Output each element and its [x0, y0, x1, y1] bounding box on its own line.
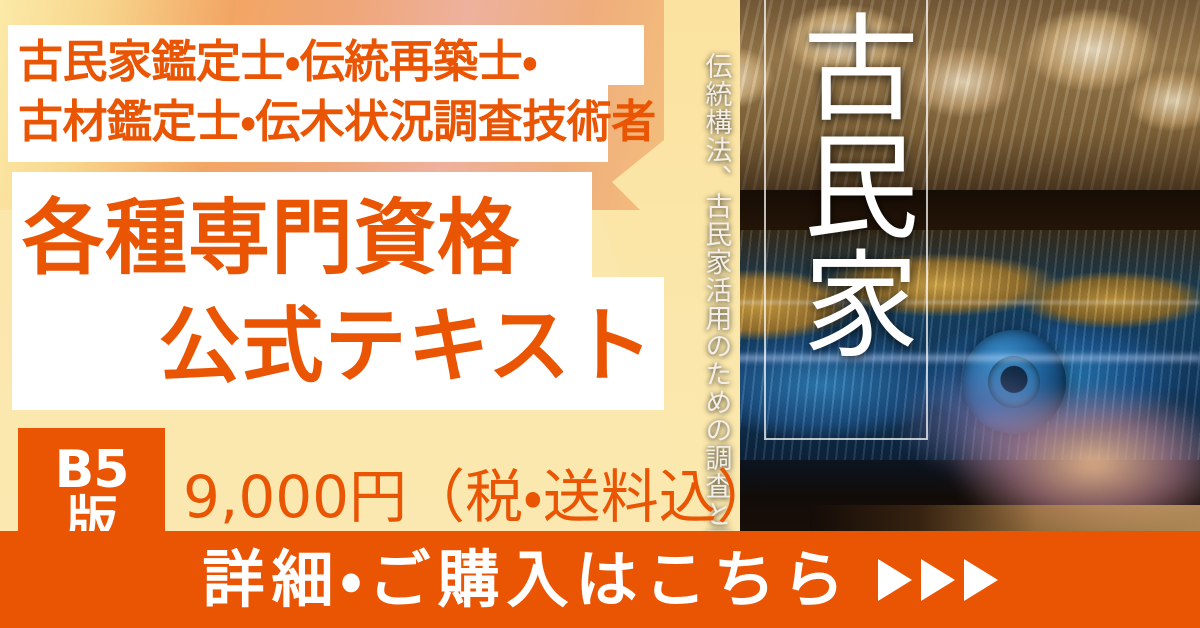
headline-line-1: 各種専門資格: [0, 185, 668, 293]
photo-sliver: [810, 505, 1200, 532]
cta-label: 詳細・ご購入はこちら: [202, 549, 851, 611]
price-amount: 9,000円（税・送料込）: [183, 468, 775, 526]
triangle-right-icon: [964, 559, 998, 601]
promo-banner: 古民家 伝統構法、古民家活用のための調査と再生の 古民家鑑定士・伝統再築士・ 古…: [0, 0, 1200, 628]
qualifications-line-2: 古材鑑定士・伝木状況調査技術者: [18, 92, 656, 152]
cta-arrow-group: [878, 559, 998, 601]
headline-text: 各種専門資格 公式テキスト: [0, 185, 668, 401]
triangle-right-icon: [878, 559, 912, 601]
headline-line-2: 公式テキスト: [0, 293, 668, 401]
qualifications-text: 古民家鑑定士・伝統再築士・ 古材鑑定士・伝木状況調査技術者: [18, 32, 656, 152]
triangle-right-icon: [921, 559, 955, 601]
qualifications-line-1: 古民家鑑定士・伝統再築士・: [18, 32, 656, 92]
cta-bar[interactable]: 詳細・ご購入はこちら: [0, 531, 1200, 628]
